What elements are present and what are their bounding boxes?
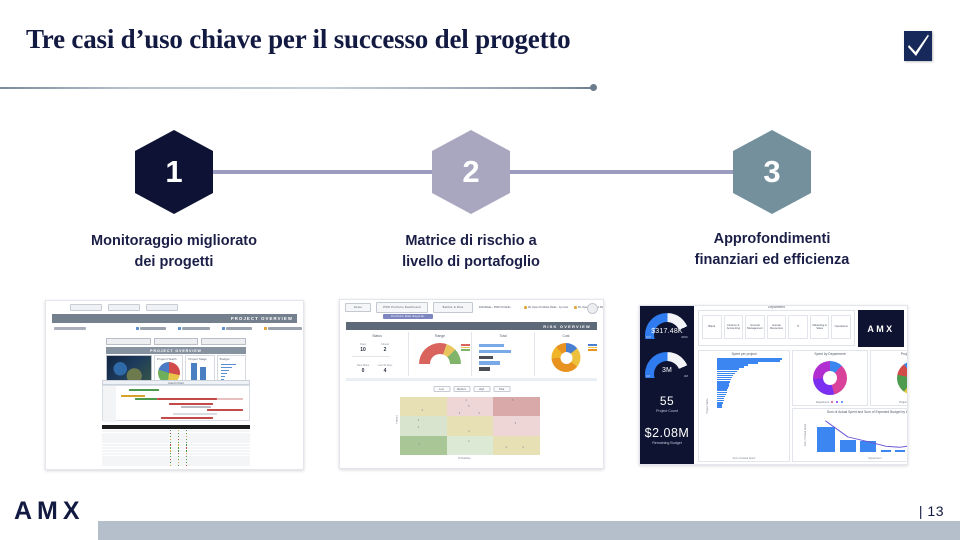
step-caption-1-line2: dei progetti	[44, 252, 304, 273]
step-number-1: 1	[165, 156, 182, 189]
t2-button-pmo-label: PMO Portfolio Dashboard	[383, 306, 421, 309]
table-row[interactable]	[102, 430, 250, 432]
step-caption-2: Matrice di rischio a livello di portafog…	[341, 231, 601, 272]
t3-card-spent-per-project[interactable]: Spent per project Project Name Sum of Ac…	[698, 350, 790, 462]
t2-button-home-label: Home	[354, 306, 362, 309]
t2-gauge-legend	[461, 344, 470, 352]
t1-link-icon-2	[178, 327, 181, 330]
t3-combo-line	[813, 418, 908, 452]
t3-combo-ylabel: Sum of Actual Spent	[804, 424, 807, 447]
t1-gantt-bar-10	[161, 417, 213, 419]
t3-slicer-item-finance[interactable]: Finance & Accounting	[724, 315, 744, 339]
t2-kpi-total: Total	[472, 332, 535, 376]
t2-kpi-status-title: Status	[372, 334, 382, 338]
t2-matrix-ylabel: Impact	[396, 415, 399, 423]
t2-stat-last30-label: Last 30 days	[372, 364, 398, 367]
t2-stat-last30: Last 30 days 4	[372, 364, 398, 374]
t3-slicer-item-general-management[interactable]: General Management	[745, 315, 765, 339]
t2-button-home[interactable]: Home	[345, 303, 371, 312]
t3-card-spend-vs-budget[interactable]: Sum of Actual Spent and Sum of Expected …	[792, 408, 908, 462]
t2-stat-closed-label: Closed	[372, 343, 398, 346]
t3-dept-donut	[813, 361, 847, 395]
table-row[interactable]	[102, 456, 250, 458]
t2-risk-matrix: 3 4523 6 22 4 5 1 2 44	[400, 397, 540, 455]
t1-link-2[interactable]	[182, 327, 210, 330]
t3-status-legend: Project...	[873, 401, 908, 404]
connector-1-2	[196, 170, 450, 174]
t1-gantt-bar-3	[135, 398, 157, 400]
t2-legend-3-swatch	[574, 306, 577, 309]
t2-kpi-range-title: Range	[435, 334, 445, 338]
table-row[interactable]	[102, 447, 250, 449]
t2-toolbar: Home PMO Portfolio Dashboard Bubble & Ri…	[340, 300, 603, 320]
t1-gantt-body	[102, 385, 250, 421]
t2-legend-2-swatch	[524, 306, 527, 309]
t3-gauge-spend-min: $0K	[646, 335, 651, 339]
t3-department-slicer[interactable]: Department Blank Finance & Accounting Ge…	[698, 310, 855, 346]
check-badge-icon	[904, 31, 932, 61]
t3-spp-bars	[717, 358, 785, 453]
t1-link-1[interactable]	[140, 327, 166, 330]
matrix-cell: 4523	[447, 397, 494, 416]
table-row[interactable]	[102, 438, 250, 440]
table-row[interactable]	[102, 441, 250, 443]
table-row[interactable]	[102, 444, 250, 446]
t3-remaining-budget-value: $2.08M	[640, 426, 694, 440]
step-caption-1-line1: Monitoraggio migliorato	[44, 231, 304, 252]
step-caption-2-line2: livello di portafoglio	[341, 252, 601, 273]
divider-line	[0, 87, 592, 89]
step-caption-3-line1: Approfondimenti	[641, 229, 903, 250]
table-row[interactable]	[102, 464, 250, 466]
t2-banner: RISK OVERVIEW	[346, 322, 597, 330]
thumbnail-risk-overview[interactable]: Home PMO Portfolio Dashboard Bubble & Ri…	[339, 299, 604, 469]
t1-filter-1[interactable]	[106, 338, 151, 345]
page-number: | 13	[919, 503, 944, 519]
connector-2-3	[494, 170, 748, 174]
t2-pill-total[interactable]: Total	[493, 386, 510, 392]
t3-remaining-budget: $2.08M Remaining Budget	[640, 426, 694, 445]
thumbnail-financial-insights[interactable]: $317.48K $0K 400K 3M 0M 4M 55 Project Co…	[639, 305, 908, 465]
table-row[interactable]	[102, 435, 250, 437]
t1-gantt-bar-6	[169, 403, 213, 405]
t2-kpi-cost-title: Cost	[563, 334, 570, 338]
t2-button-bubble-risk[interactable]: Bubble & Risk	[433, 302, 473, 313]
t3-slicer-item-blank[interactable]: Blank	[702, 315, 722, 339]
t3-slicer-item-operations[interactable]: Operations	[831, 315, 851, 339]
t2-donut-legend	[588, 344, 597, 352]
step-hexagon-1[interactable]: 1	[135, 130, 213, 214]
t2-matrix-xlabel: Probability	[458, 457, 471, 460]
step-sequence: 1 2 3	[0, 130, 960, 214]
matrix-cell: 22	[400, 416, 447, 435]
t3-card-spent-per-project-title: Spent per project	[731, 352, 756, 356]
step-hexagon-2[interactable]: 2	[432, 130, 510, 214]
t3-combo-xlabel: Department	[793, 457, 908, 460]
t1-detail-table	[102, 425, 250, 469]
t2-hbar-5	[479, 367, 490, 370]
t1-panel-title: PROJECT OVERVIEW	[150, 349, 202, 353]
matrix-cell: 1	[400, 436, 447, 455]
t3-slicer-cells: Blank Finance & Accounting General Manag…	[702, 315, 851, 339]
table-row[interactable]	[102, 461, 250, 463]
t3-combo-plot	[813, 418, 908, 452]
t2-kpi-status: Status Open 10 Closed 2 New Risks 0 Last…	[346, 332, 409, 376]
t2-gauge-chart	[419, 343, 461, 364]
step-number-3: 3	[763, 156, 780, 189]
t1-gantt-bar-2	[121, 395, 145, 397]
t3-slicer-item-marketing[interactable]: Marketing & Sales	[810, 315, 830, 339]
t2-hbar-chart	[479, 344, 520, 373]
t3-slicer-item-human-resources[interactable]: Human Resources	[767, 315, 787, 339]
t2-legend-1-label: Filtri/Risks - PMO Portfolio	[479, 306, 511, 309]
matrix-cell: 2	[447, 436, 494, 455]
t3-card-projects-by-status-title: Projects by Status	[901, 352, 908, 356]
t1-spark-5	[221, 376, 226, 377]
avatar[interactable]	[587, 303, 598, 314]
matrix-cell: 5	[493, 416, 540, 435]
t2-stat-closed-value: 2	[372, 347, 398, 353]
t1-spark-4	[221, 373, 227, 374]
t2-button-register[interactable]: Portfolio Risk Register	[383, 314, 433, 319]
t3-remaining-budget-label: Remaining Budget	[640, 441, 694, 445]
t1-breadcrumb	[54, 327, 86, 330]
t1-banner-title: PROJECT OVERVIEW	[231, 316, 297, 321]
t1-spark-3	[221, 370, 230, 371]
footer-bar	[98, 521, 960, 540]
t1-spark-1	[221, 364, 236, 365]
t3-slicer-title: Department	[766, 305, 787, 309]
t3-project-count-value: 55	[640, 394, 694, 408]
step-caption-3: Approfondimenti finanziari ed efficienza	[641, 229, 903, 270]
t2-pill-high[interactable]: High	[473, 386, 490, 392]
title-divider	[0, 84, 597, 92]
t2-kpi-cost: Cost	[535, 332, 597, 376]
t3-gauge-spend-max: 400K	[681, 335, 688, 339]
step-caption-2-line1: Matrice di rischio a	[341, 231, 601, 252]
t3-amx-logo: AMX	[858, 310, 904, 347]
t3-kpi-panel: $317.48K $0K 400K 3M 0M 4M 55 Project Co…	[640, 306, 694, 465]
t2-legend-2-label: RL Open Portfolio Risks - by Cost	[528, 306, 568, 309]
step-caption-1: Monitoraggio migliorato dei progetti	[44, 231, 304, 272]
t1-table-header	[102, 425, 250, 429]
t1-spark-title: Budget	[220, 357, 230, 361]
t1-gantt-bar-5	[217, 398, 243, 400]
t1-pie-title: Project Health	[157, 357, 176, 361]
t1-gantt-title: Gantt Chart	[168, 381, 184, 385]
t3-card-spend-vs-budget-title: Sum of Actual Spent and Sum of Expected …	[827, 410, 908, 414]
t2-button-register-label: Portfolio Risk Register	[391, 315, 425, 318]
step-caption-3-line2: finanziari ed efficienza	[641, 250, 903, 271]
step-hexagon-3[interactable]: 3	[733, 130, 811, 214]
t2-banner-title: RISK OVERVIEW	[543, 324, 597, 329]
t2-hbar-3	[479, 356, 493, 359]
footer-logo: AMX	[14, 497, 85, 526]
t3-gauge-budget-min: 0M	[646, 374, 650, 378]
t1-tab-2[interactable]	[108, 304, 140, 311]
t1-gantt-bar-8	[207, 409, 243, 411]
t1-gantt-bar-4	[157, 398, 217, 400]
matrix-cell: 6	[493, 397, 540, 416]
t3-gauge-spend: $317.48K $0K 400K	[645, 313, 689, 339]
t1-filter-row	[106, 338, 246, 345]
t1-filter-2[interactable]	[154, 338, 199, 345]
t3-project-count-label: Project Count	[640, 409, 694, 413]
t1-tab-bar	[70, 304, 178, 311]
t1-spark-2	[221, 367, 233, 368]
t1-gantt: Gantt Chart	[102, 380, 250, 421]
matrix-cell: 4	[447, 416, 494, 435]
t2-kpi-divider	[352, 356, 390, 357]
t2-hbar-2	[479, 350, 511, 353]
t1-link-icon-3	[222, 327, 225, 330]
t3-project-count: 55 Project Count	[640, 394, 694, 413]
t2-kpi-row: Status Open 10 Closed 2 New Risks 0 Last…	[346, 332, 597, 376]
t3-gauge-budget-value: 3M	[645, 367, 689, 374]
t1-subnav	[54, 326, 297, 332]
t1-banner: PROJECT OVERVIEW	[52, 314, 297, 323]
page-title: Tre casi d’uso chiave per il successo de…	[26, 24, 570, 55]
table-row[interactable]	[102, 433, 250, 435]
t2-kpi-range: Range	[409, 332, 472, 376]
t2-legend-1: Filtri/Risks - PMO Portfolio	[479, 306, 511, 309]
t3-spp-xlabel: Sum of Actual Spent	[699, 457, 789, 460]
t1-link-4[interactable]	[268, 327, 302, 330]
t2-donut-chart	[552, 343, 581, 372]
t2-hbar-4	[479, 361, 500, 364]
t3-spp-ylabel: Project Name	[706, 398, 709, 413]
step-number-2: 2	[462, 156, 479, 189]
matrix-cell: 3	[400, 397, 447, 416]
t1-tab-3[interactable]	[146, 304, 178, 311]
table-row[interactable]	[102, 453, 250, 455]
t3-card-spent-by-department-title: Spent by Department	[814, 352, 845, 356]
t2-filter-pills: Low Medium High Total	[433, 386, 510, 392]
t2-pill-medium[interactable]: Medium	[453, 386, 470, 392]
t3-card-projects-by-status[interactable]: Projects by Status Project...	[870, 350, 908, 406]
t2-hbar-1	[479, 344, 504, 347]
table-row[interactable]	[102, 458, 250, 460]
t3-card-spent-by-department[interactable]: Spent by Department Department	[792, 350, 868, 406]
thumbnail-project-overview[interactable]: PROJECT OVERVIEW PROJECT OVERVIEW Projec…	[45, 300, 304, 470]
t1-gantt-bar-9	[173, 413, 217, 415]
t2-button-pmo[interactable]: PMO Portfolio Dashboard	[376, 302, 428, 313]
t1-link-3[interactable]	[226, 327, 252, 330]
table-row[interactable]	[102, 450, 250, 452]
t3-status-donut	[897, 361, 908, 395]
t3-report-canvas: Department Blank Finance & Accounting Ge…	[694, 306, 907, 464]
t3-dept-legend: Department	[795, 401, 865, 404]
t1-gantt-bar-7	[181, 406, 211, 408]
t1-link-icon-1	[136, 327, 139, 330]
t3-gauge-budget-max: 4M	[684, 374, 688, 378]
t1-tab-1[interactable]	[70, 304, 102, 311]
t3-slicer-item-it[interactable]: IT	[788, 315, 808, 339]
matrix-cell: 44	[493, 436, 540, 455]
divider-end-dot	[590, 84, 597, 91]
t3-amx-logo-text: AMX	[867, 324, 894, 334]
t2-legend-2: RL Open Portfolio Risks - by Cost	[524, 306, 568, 309]
t3-gauge-budget: 3M 0M 4M	[645, 352, 689, 378]
t1-link-icon-4	[264, 327, 267, 330]
t1-gantt-rowlabels	[103, 386, 116, 422]
t2-stat-closed: Closed 2	[372, 343, 398, 353]
t2-stat-last30-value: 4	[372, 368, 398, 374]
t1-gantt-bar-1	[129, 389, 159, 391]
t2-pill-low[interactable]: Low	[433, 386, 450, 392]
t1-filter-3[interactable]	[201, 338, 246, 345]
t1-panel-header: PROJECT OVERVIEW	[106, 347, 246, 354]
t3-gauge-spend-value: $317.48K	[645, 328, 689, 335]
t2-kpi-total-title: Total	[499, 334, 506, 338]
t2-section-divider	[346, 378, 597, 381]
t2-button-bubble-risk-label: Bubble & Risk	[443, 306, 464, 309]
